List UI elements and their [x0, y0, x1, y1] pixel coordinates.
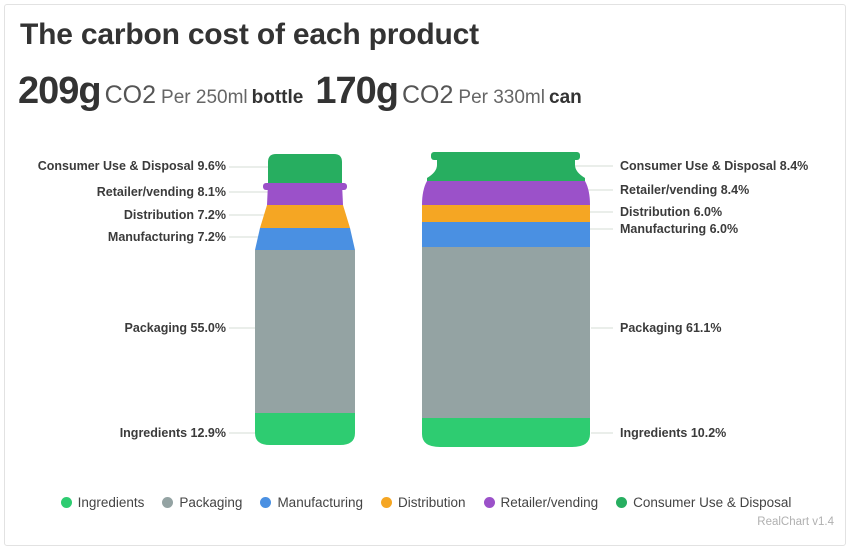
bottle-segment-ingredients	[255, 413, 355, 445]
vessel-graphics	[0, 0, 852, 552]
legend-item-consumer-use[interactable]: Consumer Use & Disposal	[616, 495, 791, 510]
legend-dot-icon	[484, 497, 495, 508]
legend-dot-icon	[162, 497, 173, 508]
bottle-segment-distribution	[260, 205, 350, 228]
legend-dot-icon	[260, 497, 271, 508]
bottle-label-consumer-use: Consumer Use & Disposal 9.6%	[0, 159, 226, 173]
bottle-label-distribution: Distribution 7.2%	[0, 208, 226, 222]
legend-label: Packaging	[179, 495, 242, 510]
legend-dot-icon	[616, 497, 627, 508]
legend-item-ingredients[interactable]: Ingredients	[61, 495, 145, 510]
watermark: RealChart v1.4	[757, 516, 834, 528]
can-graphic	[422, 152, 590, 447]
bottle-segment-manufacturing	[255, 228, 355, 250]
legend-label: Distribution	[398, 495, 466, 510]
can-label-distribution: Distribution 6.0%	[620, 205, 722, 219]
legend-item-distribution[interactable]: Distribution	[381, 495, 466, 510]
bottle-label-packaging: Packaging 55.0%	[0, 321, 226, 335]
bottle-graphic	[255, 154, 355, 445]
bottle-label-retailer-vending: Retailer/vending 8.1%	[0, 185, 226, 199]
can-label-consumer-use: Consumer Use & Disposal 8.4%	[620, 159, 808, 173]
legend-label: Retailer/vending	[501, 495, 599, 510]
bottle-segment-retailer-vending	[267, 183, 343, 205]
can-label-retailer-vending: Retailer/vending 8.4%	[620, 183, 749, 197]
legend-dot-icon	[61, 497, 72, 508]
chart-legend: Ingredients Packaging Manufacturing Dist…	[0, 495, 852, 510]
bottle-segment-packaging	[255, 250, 355, 413]
legend-item-retailer-vending[interactable]: Retailer/vending	[484, 495, 599, 510]
can-segment-distribution	[422, 205, 590, 222]
chart-plot-area: Consumer Use & Disposal 9.6% Retailer/ve…	[0, 0, 852, 552]
legend-label: Ingredients	[78, 495, 145, 510]
legend-dot-icon	[381, 497, 392, 508]
can-label-manufacturing: Manufacturing 6.0%	[620, 222, 738, 236]
bottle-segment-consumer-use	[268, 154, 342, 183]
legend-label: Manufacturing	[277, 495, 363, 510]
bottle-label-manufacturing: Manufacturing 7.2%	[0, 230, 226, 244]
legend-item-packaging[interactable]: Packaging	[162, 495, 242, 510]
legend-item-manufacturing[interactable]: Manufacturing	[260, 495, 363, 510]
bottle-label-ingredients: Ingredients 12.9%	[0, 426, 226, 440]
can-segment-ingredients	[422, 418, 590, 447]
can-label-ingredients: Ingredients 10.2%	[620, 426, 726, 440]
can-segment-manufacturing	[422, 222, 590, 247]
legend-label: Consumer Use & Disposal	[633, 495, 791, 510]
can-segment-packaging	[422, 247, 590, 418]
can-segment-retailer-vending	[422, 181, 590, 205]
can-label-packaging: Packaging 61.1%	[620, 321, 721, 335]
can-segment-consumer-use	[427, 152, 585, 181]
